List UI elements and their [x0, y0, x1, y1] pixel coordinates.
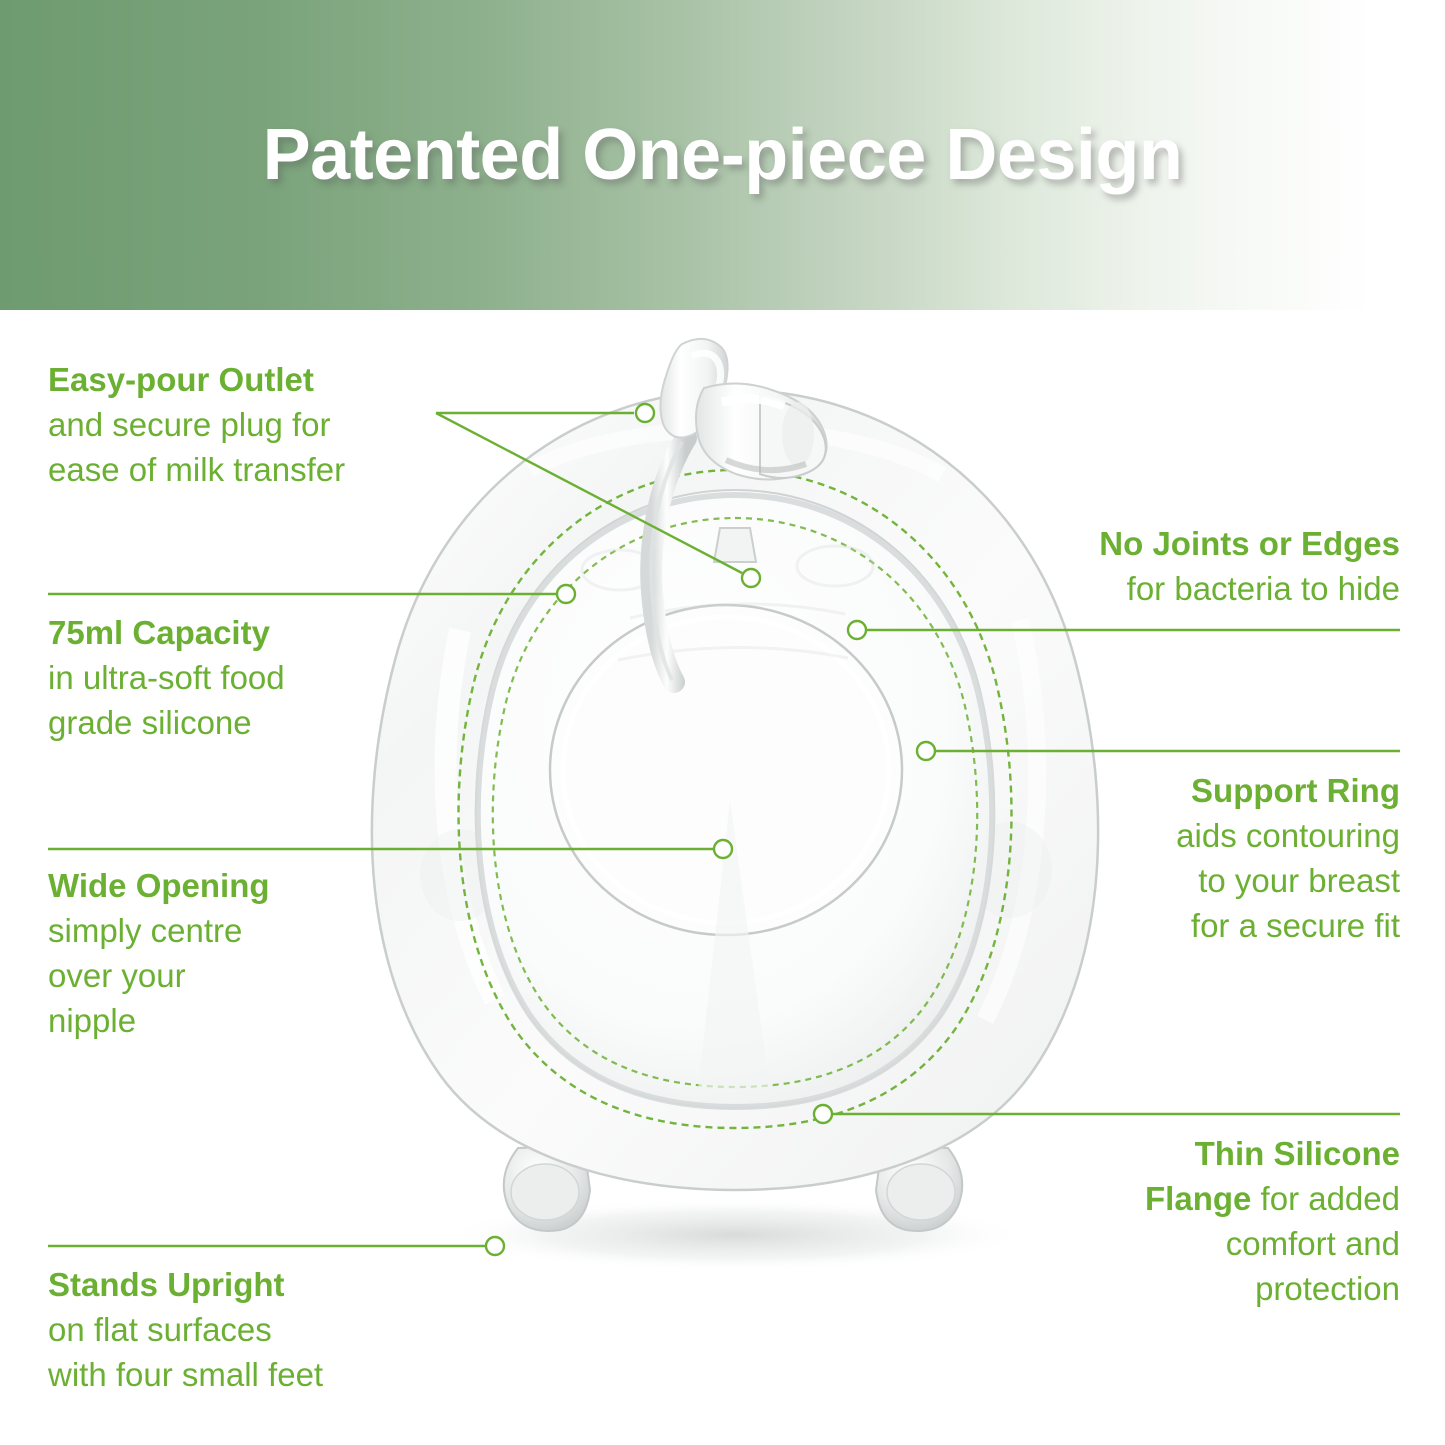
callout-body-line: aids contouring [950, 813, 1400, 858]
callout-body-line: with four small feet [48, 1352, 468, 1397]
callout-support-ring: Support Ring aids contouring to your bre… [950, 768, 1400, 948]
callout-body-line: for a secure fit [950, 903, 1400, 948]
callout-title-flange-word: Flange [1145, 1180, 1251, 1217]
callout-stands-upright: Stands Upright on flat surfaces with fou… [48, 1262, 468, 1397]
ring-notch [714, 528, 756, 562]
callout-thin-silicone-flange: Thin Silicone Flange for added comfort a… [940, 1131, 1400, 1311]
callout-body-line: on flat surfaces [48, 1307, 468, 1352]
callout-title-stands-upright: Stands Upright [48, 1262, 468, 1307]
callout-body-line: and secure plug for [48, 402, 468, 447]
callout-body-line: in ultra-soft food [48, 655, 448, 700]
callout-body-line: nipple [48, 998, 388, 1043]
callout-title-thin-silicone-flange-line1: Thin Silicone [940, 1131, 1400, 1176]
callout-body-line: protection [940, 1266, 1400, 1311]
callout-body-line: comfort and [940, 1221, 1400, 1266]
callout-wide-opening: Wide Opening simply centre over your nip… [48, 863, 388, 1043]
callout-capacity: 75ml Capacity in ultra-soft food grade s… [48, 610, 448, 745]
callout-body-line: over your [48, 953, 388, 998]
callout-title-capacity: 75ml Capacity [48, 610, 448, 655]
infographic-page: Patented One-piece Design [0, 0, 1445, 1445]
callout-title-easy-pour-outlet: Easy-pour Outlet [48, 357, 468, 402]
header-band: Patented One-piece Design [0, 0, 1445, 310]
callout-body-line: ease of milk transfer [48, 447, 468, 492]
callout-title-wide-opening: Wide Opening [48, 863, 388, 908]
callout-easy-pour-outlet: Easy-pour Outlet and secure plug for eas… [48, 357, 468, 492]
callout-body-line: simply centre [48, 908, 388, 953]
page-title: Patented One-piece Design [0, 0, 1445, 310]
callout-no-joints-or-edges: No Joints or Edges for bacteria to hide [920, 521, 1400, 611]
callout-body-line: grade silicone [48, 700, 448, 745]
callout-title-support-ring: Support Ring [950, 768, 1400, 813]
callout-title-thin-silicone-flange-line2: Flange for added [940, 1176, 1400, 1221]
callout-body-line: to your breast [950, 858, 1400, 903]
callout-body-line: for bacteria to hide [920, 566, 1400, 611]
callout-inline-rest: for added [1251, 1180, 1400, 1217]
callout-title-no-joints-or-edges: No Joints or Edges [920, 521, 1400, 566]
